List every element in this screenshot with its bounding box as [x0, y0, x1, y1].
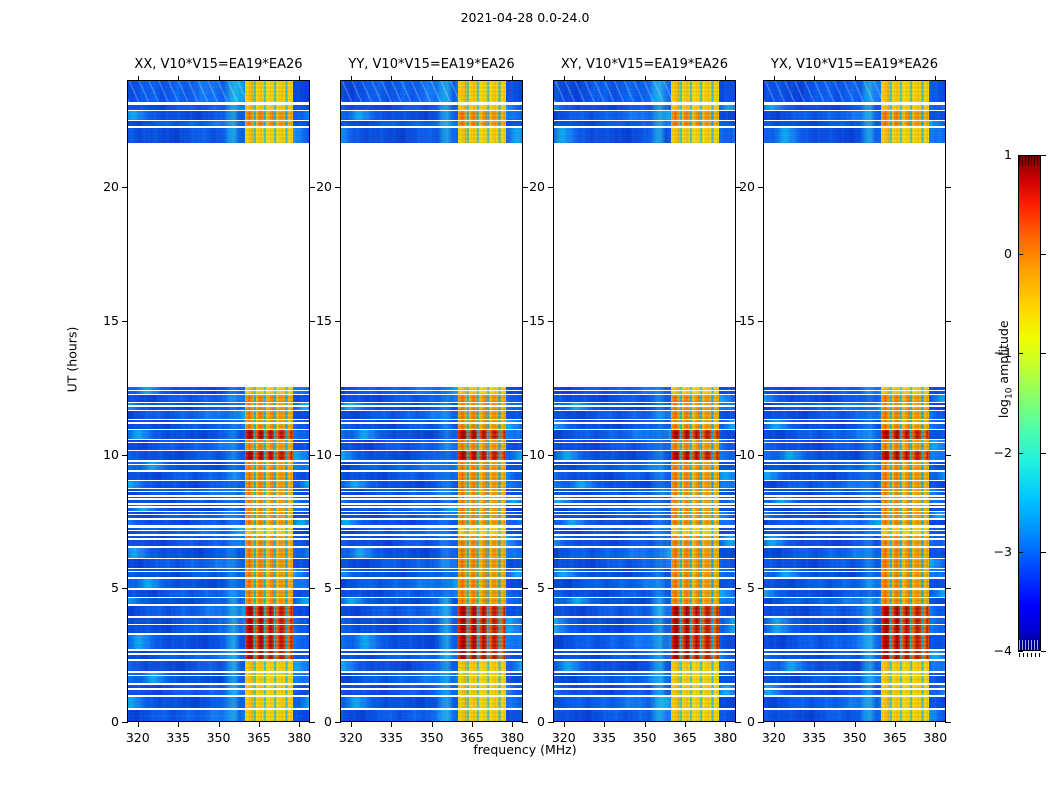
- x-tick-label: 350: [625, 730, 665, 745]
- y-tick-label: 5: [296, 580, 332, 595]
- spectrogram-scan-block: [764, 472, 945, 480]
- x-tick-mark-top: [351, 76, 352, 81]
- flagged-row: [764, 405, 945, 406]
- y-tick-label: 15: [296, 313, 332, 328]
- spectrogram-scan-block: [341, 411, 522, 419]
- x-tick-mark: [432, 722, 433, 727]
- spectrogram-scan-block: [341, 121, 522, 126]
- spectrogram-scan-block: [554, 411, 735, 419]
- flagged-row: [764, 653, 945, 654]
- x-tick-mark-top: [645, 76, 646, 81]
- spectrogram-scan-block: [128, 635, 309, 649]
- figure-canvas: 2021-04-28 0.0-24.0 XX, V10*V15=EA19*EA2…: [0, 0, 1050, 800]
- spectrogram-scan-block: [128, 559, 309, 568]
- spectrogram-scan-block: [554, 128, 735, 143]
- colorbar-tick-mark: [1041, 552, 1046, 553]
- flagged-row: [341, 491, 522, 492]
- spectrogram-scan-block: [128, 481, 309, 487]
- spectrogram-scan-block: [128, 598, 309, 604]
- colorbar-tick-mark: [1041, 353, 1046, 354]
- spectrogram-scan-block: [128, 685, 309, 695]
- spectrogram-scan-block: [341, 128, 522, 143]
- spectrogram-scan-block: [554, 430, 735, 439]
- spectrogram-scan-block: [554, 472, 735, 480]
- y-tick-mark: [758, 588, 764, 589]
- spectrogram-scan-block: [554, 697, 735, 709]
- spectrogram-scan-block: [341, 590, 522, 597]
- y-tick-label: 5: [509, 580, 545, 595]
- flagged-row: [764, 538, 945, 539]
- y-tick-mark-right: [945, 455, 951, 456]
- spectrogram-scan-block: [554, 661, 735, 671]
- x-tick-mark: [645, 722, 646, 727]
- flagged-row: [341, 688, 522, 689]
- y-tick-mark: [122, 722, 128, 723]
- spectrogram-scan-block: [128, 661, 309, 671]
- x-tick-mark: [219, 722, 220, 727]
- spectrogram-scan-block: [341, 548, 522, 558]
- spectrogram-scan-block: [341, 472, 522, 480]
- y-tick-mark: [335, 722, 341, 723]
- y-tick-mark: [335, 588, 341, 589]
- x-tick-label: 320: [754, 730, 794, 745]
- spectrogram-scan-block: [764, 128, 945, 143]
- flagged-row: [341, 464, 522, 465]
- colorbar-tick-mark-inner: [1018, 155, 1023, 156]
- panel-title-xx: XX, V10*V15=EA19*EA26: [127, 57, 310, 72]
- spectrogram-scan-block: [128, 111, 309, 119]
- x-tick-mark-top: [472, 76, 473, 81]
- spectrogram-scan-block: [554, 451, 735, 460]
- y-tick-mark: [548, 722, 554, 723]
- spectrogram-scan-block: [764, 559, 945, 568]
- y-tick-mark: [548, 321, 554, 322]
- spectrogram-scan-block: [341, 685, 522, 695]
- flagged-row: [341, 422, 522, 423]
- flagged-row: [764, 422, 945, 423]
- x-tick-label: 380: [705, 730, 745, 745]
- spectrogram-scan-block: [554, 579, 735, 588]
- x-tick-mark: [774, 722, 775, 727]
- spectrogram-scan-block: [341, 635, 522, 649]
- x-tick-label: 335: [371, 730, 411, 745]
- flagged-row: [341, 506, 522, 507]
- spectrogram-scan-block: [764, 395, 945, 402]
- x-tick-label: 350: [199, 730, 239, 745]
- x-tick-mark: [472, 722, 473, 727]
- y-tick-mark-right: [945, 321, 951, 322]
- y-tick-mark: [122, 321, 128, 322]
- flagged-row: [341, 442, 522, 443]
- flagged-row: [764, 530, 945, 531]
- flagged-row: [128, 390, 309, 391]
- x-tick-label: 320: [118, 730, 158, 745]
- colorbar-tick-mark: [1041, 651, 1046, 652]
- flagged-row: [554, 390, 735, 391]
- colorbar-title: log10 amplitude: [996, 289, 1015, 449]
- x-tick-mark: [935, 722, 936, 727]
- spectrogram-scan-block: [128, 579, 309, 588]
- spectrogram-scan-block: [128, 128, 309, 143]
- colorbar-tick-mark: [1041, 453, 1046, 454]
- flagged-row: [764, 491, 945, 492]
- y-tick-mark: [122, 455, 128, 456]
- flagged-row: [554, 624, 735, 625]
- y-tick-mark: [122, 187, 128, 188]
- panel-yx[interactable]: [763, 80, 946, 722]
- spectrogram-scan-block: [554, 685, 735, 695]
- flagged-row: [764, 498, 945, 499]
- flagged-row: [128, 538, 309, 539]
- x-tick-mark-top: [432, 76, 433, 81]
- flagged-row: [341, 514, 522, 515]
- flagged-row: [128, 498, 309, 499]
- spectrogram-scan-block: [764, 105, 945, 110]
- y-tick-label: 15: [509, 313, 545, 328]
- y-tick-label: 20: [83, 179, 119, 194]
- flagged-row: [128, 688, 309, 689]
- flagged-row: [554, 571, 735, 572]
- x-tick-label: 335: [158, 730, 198, 745]
- flagged-row: [341, 530, 522, 531]
- flagged-row: [764, 624, 945, 625]
- flagged-row: [554, 653, 735, 654]
- x-tick-mark-top: [564, 76, 565, 81]
- spectrogram-scan-block: [554, 548, 735, 558]
- spectrogram-scan-block: [554, 606, 735, 616]
- x-tick-label: 365: [239, 730, 279, 745]
- flagged-row: [128, 405, 309, 406]
- panel-xx[interactable]: [127, 80, 310, 722]
- y-tick-label: 15: [719, 313, 755, 328]
- colorbar-tick-label: −3: [972, 544, 1012, 559]
- flagged-row: [554, 514, 735, 515]
- x-tick-mark: [138, 722, 139, 727]
- flagged-row: [764, 442, 945, 443]
- spectrogram-scan-block: [128, 590, 309, 597]
- x-tick-label: 320: [544, 730, 584, 745]
- y-tick-label: 0: [296, 714, 332, 729]
- spectrogram-scan-block: [764, 430, 945, 439]
- spectrogram-scan-block: [128, 430, 309, 439]
- panel-title-yx: YX, V10*V15=EA19*EA26: [763, 57, 946, 72]
- colorbar-tick-mark-inner: [1018, 353, 1023, 354]
- spectrogram-scan-block: [341, 710, 522, 722]
- spectrogram-scan-block: [554, 590, 735, 597]
- spectrogram-scan-block: [554, 111, 735, 119]
- flagged-row: [128, 675, 309, 676]
- colorbar[interactable]: [1018, 155, 1041, 651]
- y-tick-mark: [758, 722, 764, 723]
- spectrogram-scan-block: [128, 395, 309, 402]
- flagged-row: [128, 653, 309, 654]
- panel-xy[interactable]: [553, 80, 736, 722]
- y-tick-mark: [758, 455, 764, 456]
- spectrogram-scan-block: [764, 81, 945, 102]
- x-tick-mark: [259, 722, 260, 727]
- panel-title-yy: YY, V10*V15=EA19*EA26: [340, 57, 523, 72]
- y-tick-mark: [758, 187, 764, 188]
- spectrogram-scan-block: [128, 651, 309, 658]
- x-tick-mark-top: [219, 76, 220, 81]
- flagged-row: [554, 422, 735, 423]
- spectrogram-scan-block: [554, 635, 735, 649]
- x-tick-label: 380: [492, 730, 532, 745]
- spectrogram-scan-block: [764, 548, 945, 558]
- spectrogram-scan-block: [128, 472, 309, 480]
- colorbar-title-text: log: [996, 399, 1011, 418]
- figure-suptitle: 2021-04-28 0.0-24.0: [0, 10, 1050, 25]
- x-tick-label: 350: [412, 730, 452, 745]
- y-tick-label: 20: [509, 179, 545, 194]
- flagged-row: [341, 538, 522, 539]
- y-tick-mark: [548, 455, 554, 456]
- spectrogram-scan-block: [341, 661, 522, 671]
- y-tick-mark-right: [945, 187, 951, 188]
- spectrogram-scan-block: [554, 395, 735, 402]
- y-tick-label: 5: [83, 580, 119, 595]
- x-tick-mark-top: [814, 76, 815, 81]
- spectrogram-scan-block: [128, 105, 309, 110]
- flagged-row: [341, 498, 522, 499]
- x-tick-mark: [351, 722, 352, 727]
- spectrogram-scan-block: [128, 81, 309, 102]
- flagged-row: [554, 675, 735, 676]
- flagged-row: [764, 675, 945, 676]
- colorbar-tick-mark: [1041, 254, 1046, 255]
- x-tick-mark: [855, 722, 856, 727]
- spectrogram-scan-block: [128, 697, 309, 709]
- spectrogram-scan-block: [554, 81, 735, 102]
- y-tick-label: 15: [83, 313, 119, 328]
- spectrogram-scan-block: [554, 121, 735, 126]
- spectrogram-scan-block: [341, 651, 522, 658]
- flagged-row: [341, 405, 522, 406]
- spectrogram-scan-block: [764, 685, 945, 695]
- y-tick-mark: [758, 321, 764, 322]
- flagged-row: [764, 506, 945, 507]
- spectrogram-scan-block: [764, 121, 945, 126]
- spectrogram-scan-block: [128, 121, 309, 126]
- spectrogram-scan-block: [128, 548, 309, 558]
- spectrogram-scan-block: [764, 661, 945, 671]
- spectrogram-scan-block: [341, 579, 522, 588]
- spectrogram-scan-block: [764, 598, 945, 604]
- y-tick-mark: [122, 588, 128, 589]
- colorbar-tick-mark: [1041, 155, 1046, 156]
- spectrogram-scan-block: [554, 618, 735, 634]
- flagged-row: [554, 442, 735, 443]
- spectrogram-scan-block: [764, 481, 945, 487]
- spectrogram-scan-block: [341, 105, 522, 110]
- flagged-row: [554, 405, 735, 406]
- flagged-row: [554, 688, 735, 689]
- y-tick-label: 20: [296, 179, 332, 194]
- spectrogram-scan-block: [341, 697, 522, 709]
- x-tick-mark: [895, 722, 896, 727]
- spectrogram-scan-block: [554, 598, 735, 604]
- spectrogram-scan-block: [341, 111, 522, 119]
- spectrogram-scan-block: [764, 451, 945, 460]
- x-tick-mark: [604, 722, 605, 727]
- spectrogram-scan-block: [764, 618, 945, 634]
- spectrogram-scan-block: [764, 590, 945, 597]
- spectrogram-scan-block: [128, 606, 309, 616]
- spectrogram-scan-block: [554, 520, 735, 525]
- colorbar-tick-label: 1: [972, 147, 1012, 162]
- spectrogram-scan-block: [764, 635, 945, 649]
- colorbar-tick-label: 0: [972, 246, 1012, 261]
- x-tick-mark-top: [138, 76, 139, 81]
- spectrogram-scan-block: [764, 411, 945, 419]
- spectrogram-scan-block: [764, 697, 945, 709]
- flagged-row: [128, 530, 309, 531]
- panel-yy[interactable]: [340, 80, 523, 722]
- y-tick-label: 10: [509, 447, 545, 462]
- y-tick-mark: [335, 321, 341, 322]
- colorbar-tick-mark-inner: [1018, 254, 1023, 255]
- flagged-row: [554, 464, 735, 465]
- spectrogram-scan-block: [128, 451, 309, 460]
- spectrogram-scan-block: [341, 598, 522, 604]
- x-tick-mark-top: [178, 76, 179, 81]
- colorbar-tick-label: −2: [972, 445, 1012, 460]
- x-tick-label: 350: [835, 730, 875, 745]
- y-tick-label: 0: [509, 714, 545, 729]
- y-tick-label: 10: [719, 447, 755, 462]
- y-tick-mark-right: [945, 722, 951, 723]
- y-tick-mark: [335, 187, 341, 188]
- flagged-row: [764, 464, 945, 465]
- x-tick-mark-top: [299, 76, 300, 81]
- flagged-row: [128, 422, 309, 423]
- flagged-row: [554, 538, 735, 539]
- spectrogram-scan-block: [554, 559, 735, 568]
- y-tick-label: 10: [296, 447, 332, 462]
- x-tick-label: 380: [915, 730, 955, 745]
- flagged-row: [128, 442, 309, 443]
- spectrogram-scan-block: [341, 81, 522, 102]
- colorbar-under-hatch: [1019, 640, 1040, 650]
- colorbar-tick-mark-inner: [1018, 453, 1023, 454]
- x-tick-mark-top: [895, 76, 896, 81]
- spectrogram-scan-block: [764, 606, 945, 616]
- spectrogram-scan-block: [554, 481, 735, 487]
- flagged-row: [128, 624, 309, 625]
- x-tick-mark-top: [259, 76, 260, 81]
- x-tick-mark: [178, 722, 179, 727]
- spectrogram-scan-block: [128, 618, 309, 634]
- flagged-row: [128, 506, 309, 507]
- flagged-row: [128, 514, 309, 515]
- flagged-row: [341, 624, 522, 625]
- y-tick-mark: [335, 455, 341, 456]
- flagged-row: [341, 390, 522, 391]
- x-tick-label: 335: [794, 730, 834, 745]
- spectrogram-scan-block: [764, 651, 945, 658]
- spectrogram-scan-block: [341, 395, 522, 402]
- panel-title-xy: XY, V10*V15=EA19*EA26: [553, 57, 736, 72]
- colorbar-tick-mark-inner: [1018, 552, 1023, 553]
- y-tick-mark-right: [945, 588, 951, 589]
- spectrogram-scan-block: [554, 710, 735, 722]
- x-tick-mark: [564, 722, 565, 727]
- colorbar-title-subscript: 10: [1004, 388, 1014, 399]
- colorbar-under-marker: [1019, 653, 1040, 657]
- flagged-row: [128, 571, 309, 572]
- x-tick-mark: [685, 722, 686, 727]
- x-tick-mark-top: [512, 76, 513, 81]
- spectrogram-scan-block: [128, 411, 309, 419]
- spectrogram-scan-block: [764, 520, 945, 525]
- colorbar-tick-label: −4: [972, 643, 1012, 658]
- x-tick-mark-top: [935, 76, 936, 81]
- colorbar-tick-label: −1: [972, 345, 1012, 360]
- flagged-row: [764, 688, 945, 689]
- flagged-row: [341, 571, 522, 572]
- flagged-row: [554, 530, 735, 531]
- y-axis-title: UT (hours): [65, 280, 80, 440]
- x-tick-label: 365: [665, 730, 705, 745]
- spectrogram-scan-block: [341, 451, 522, 460]
- flagged-row: [764, 514, 945, 515]
- spectrogram-scan-block: [764, 710, 945, 722]
- flagged-row: [764, 390, 945, 391]
- spectrogram-scan-block: [341, 606, 522, 616]
- x-tick-label: 335: [584, 730, 624, 745]
- flagged-row: [341, 675, 522, 676]
- spectrogram-scan-block: [341, 430, 522, 439]
- x-tick-label: 380: [279, 730, 319, 745]
- spectrogram-scan-block: [764, 579, 945, 588]
- x-tick-mark-top: [685, 76, 686, 81]
- y-tick-label: 5: [719, 580, 755, 595]
- y-tick-label: 0: [719, 714, 755, 729]
- x-tick-mark-top: [855, 76, 856, 81]
- x-tick-mark-top: [391, 76, 392, 81]
- y-tick-mark: [548, 588, 554, 589]
- y-tick-label: 20: [719, 179, 755, 194]
- colorbar-over-hatch: [1019, 156, 1040, 166]
- flagged-row: [554, 491, 735, 492]
- colorbar-tick-mark-inner: [1018, 651, 1023, 652]
- spectrogram-scan-block: [341, 481, 522, 487]
- spectrogram-scan-block: [554, 651, 735, 658]
- x-tick-label: 320: [331, 730, 371, 745]
- x-tick-label: 365: [452, 730, 492, 745]
- spectrogram-scan-block: [341, 618, 522, 634]
- spectrogram-scan-block: [128, 710, 309, 722]
- flagged-row: [554, 506, 735, 507]
- x-tick-mark-top: [774, 76, 775, 81]
- flagged-row: [128, 464, 309, 465]
- spectrogram-scan-block: [341, 520, 522, 525]
- spectrogram-scan-block: [128, 520, 309, 525]
- flagged-row: [764, 571, 945, 572]
- x-tick-mark: [814, 722, 815, 727]
- x-tick-mark-top: [725, 76, 726, 81]
- x-tick-label: 365: [875, 730, 915, 745]
- spectrogram-scan-block: [554, 105, 735, 110]
- flagged-row: [128, 491, 309, 492]
- spectrogram-scan-block: [341, 559, 522, 568]
- x-tick-mark-top: [604, 76, 605, 81]
- y-tick-label: 10: [83, 447, 119, 462]
- flagged-row: [554, 498, 735, 499]
- x-tick-mark: [391, 722, 392, 727]
- spectrogram-scan-block: [764, 111, 945, 119]
- y-tick-label: 0: [83, 714, 119, 729]
